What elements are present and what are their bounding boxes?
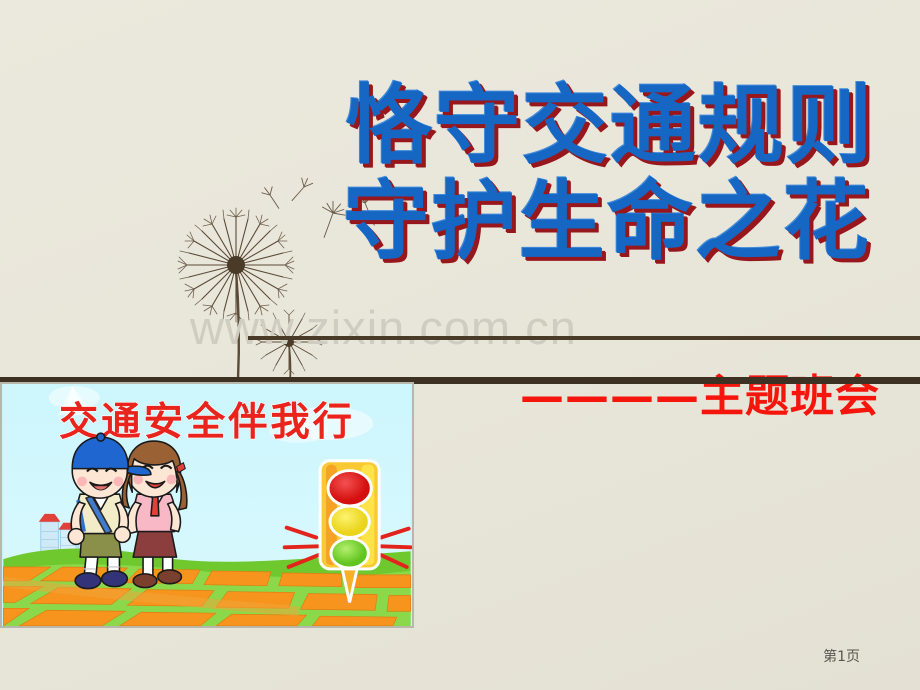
- slide-title: 恪守交通规则 守护生命之花: [330, 78, 890, 271]
- slide-subtitle: ————主题班会: [520, 360, 880, 424]
- title-line-1: 恪守交通规则: [330, 78, 890, 174]
- slide-canvas: www.zixin.com.cn 恪守交通规则 守护生命之花 ————主题班会: [0, 0, 920, 690]
- page-number: 第1页: [823, 646, 860, 666]
- traffic-safety-image: 交通安全伴我行: [0, 382, 414, 628]
- title-line-2: 守护生命之花: [324, 174, 890, 270]
- title-underline-thin: [248, 336, 920, 340]
- watermark-text: www.zixin.com.cn: [190, 300, 577, 355]
